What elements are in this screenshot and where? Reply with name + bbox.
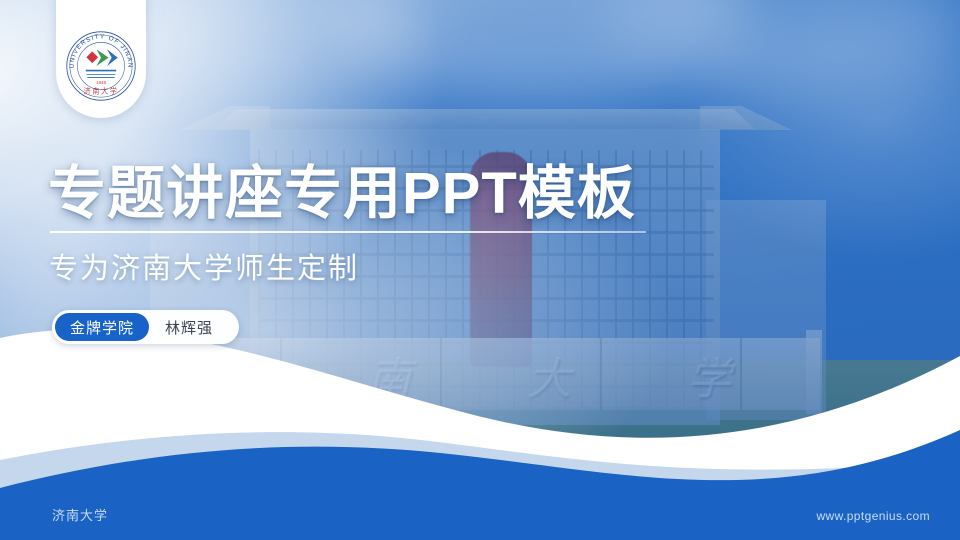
decorative-wave-band (0, 310, 960, 540)
logo-founding-year: 1948 (96, 80, 107, 85)
badge-chip-label: 金牌学院 (55, 313, 149, 341)
presentation-slide: 济 南 大 学 (0, 0, 960, 540)
slide-subtitle: 专为济南大学师生定制 (49, 245, 359, 287)
slide-main-title: 专题讲座专用PPT模板 (48, 162, 636, 227)
footer-website-url[interactable]: www.pptgenius.com (816, 509, 930, 523)
presenter-name: 林辉强 (149, 317, 225, 338)
title-divider-line (50, 231, 646, 233)
footer-university-name: 济南大学 (52, 505, 108, 524)
presenter-badge[interactable]: 金牌学院 林辉强 (52, 310, 239, 344)
university-of-jinan-logo-icon: UNIVERSITY OF JINAN 1948 济南大学 (63, 28, 139, 104)
logo-chinese-name: 济南大学 (84, 86, 119, 95)
